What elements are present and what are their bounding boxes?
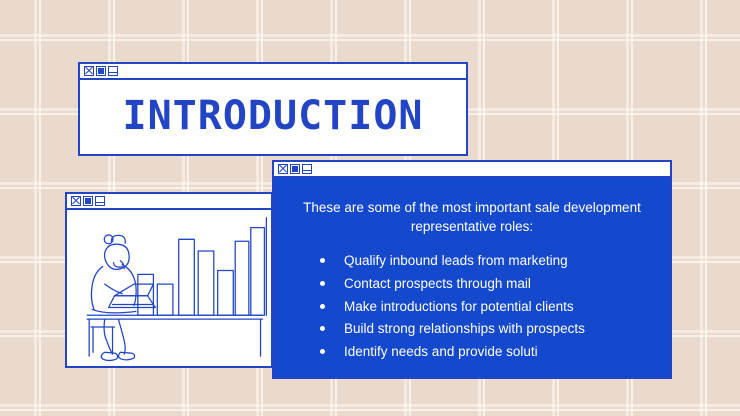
content-window[interactable]: These are some of the most important sal… [272, 160, 672, 379]
content-window-controls [278, 164, 312, 174]
bullet-dot-icon [320, 304, 325, 309]
list-item-label: Contact prospects through mail [344, 276, 531, 291]
list-item: Identify needs and provide soluti [318, 341, 648, 364]
bullet-dot-icon [320, 349, 325, 354]
close-icon[interactable] [278, 164, 288, 174]
maximize-icon[interactable] [96, 66, 106, 76]
list-item-label: Identify needs and provide soluti [344, 344, 538, 359]
title-window-body: INTRODUCTION [80, 80, 466, 154]
title-window-titlebar[interactable] [80, 64, 466, 80]
list-item: Contact prospects through mail [318, 273, 648, 296]
minimize-icon[interactable] [108, 66, 118, 76]
content-window-titlebar[interactable] [274, 162, 670, 178]
list-item: Qualify inbound leads from marketing [318, 250, 648, 273]
list-item: Build strong relationships with prospect… [318, 318, 648, 341]
page-title: INTRODUCTION [123, 96, 424, 136]
person-at-laptop-illustration [71, 214, 267, 362]
list-item-label: Build strong relationships with prospect… [344, 321, 585, 336]
close-icon[interactable] [71, 196, 81, 206]
maximize-icon[interactable] [83, 196, 93, 206]
minimize-icon[interactable] [95, 196, 105, 206]
title-window[interactable]: INTRODUCTION [78, 62, 468, 156]
list-item-label: Qualify inbound leads from marketing [344, 253, 568, 268]
illustration-window-controls [71, 196, 105, 206]
content-window-body: These are some of the most important sal… [274, 178, 670, 377]
close-icon[interactable] [84, 66, 94, 76]
illustration-window-titlebar[interactable] [67, 194, 271, 210]
bullet-dot-icon [320, 326, 325, 331]
maximize-icon[interactable] [290, 164, 300, 174]
illustration-window-body [67, 210, 271, 366]
list-item-label: Make introductions for potential clients [344, 299, 574, 314]
minimize-icon[interactable] [302, 164, 312, 174]
illustration-window[interactable] [65, 192, 273, 368]
roles-bullet-list: Qualify inbound leads from marketing Con… [296, 250, 648, 363]
title-window-controls [84, 66, 118, 76]
slide-canvas: INTRODUCTION [0, 0, 740, 416]
intro-paragraph: These are some of the most important sal… [302, 198, 642, 236]
bullet-dot-icon [320, 281, 325, 286]
bullet-dot-icon [320, 258, 325, 263]
list-item: Make introductions for potential clients [318, 296, 648, 319]
